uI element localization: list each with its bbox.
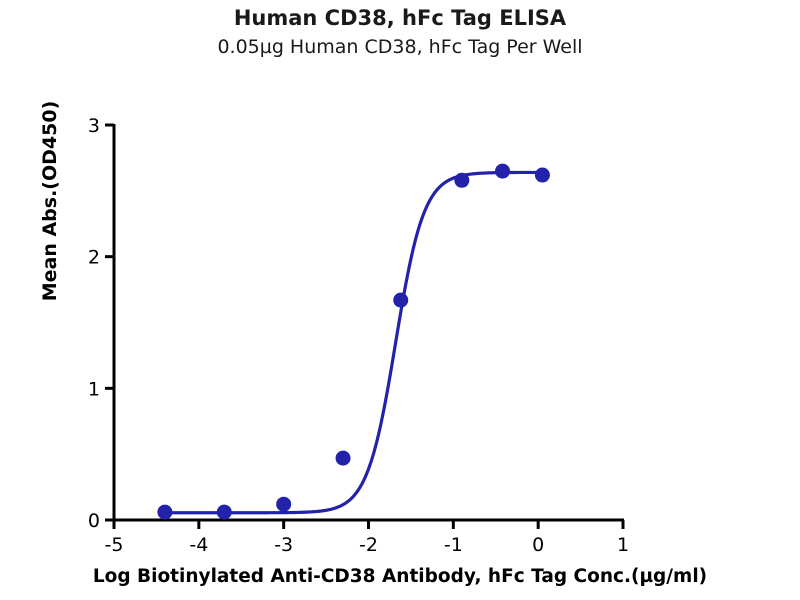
x-tick-label: 1 [617, 534, 629, 556]
fit-curve-path [165, 172, 543, 512]
x-tick-label: -3 [274, 534, 293, 556]
plot-area: -5-4-3-2-101 0123 [0, 0, 800, 600]
x-tick-label: -2 [359, 534, 378, 556]
data-point [393, 293, 408, 308]
x-axis-ticks: -5-4-3-2-101 [105, 520, 630, 556]
x-tick-label: -5 [105, 534, 124, 556]
y-tick-label: 0 [88, 510, 100, 532]
x-tick-label: -1 [444, 534, 463, 556]
y-tick-label: 3 [88, 115, 100, 137]
data-point [336, 451, 351, 466]
fit-curve [165, 172, 543, 512]
data-point [535, 168, 550, 183]
data-points [157, 164, 550, 520]
data-point [157, 505, 172, 520]
axes [114, 124, 624, 520]
data-point [217, 505, 232, 520]
data-point [276, 497, 291, 512]
y-tick-label: 2 [88, 247, 100, 269]
y-axis-ticks: 0123 [88, 115, 114, 532]
y-tick-label: 1 [88, 378, 100, 400]
chart-page: Human CD38, hFc Tag ELISA 0.05µg Human C… [0, 0, 800, 600]
data-point [495, 164, 510, 179]
x-tick-label: -4 [189, 534, 208, 556]
x-tick-label: 0 [532, 534, 544, 556]
data-point [454, 173, 469, 188]
